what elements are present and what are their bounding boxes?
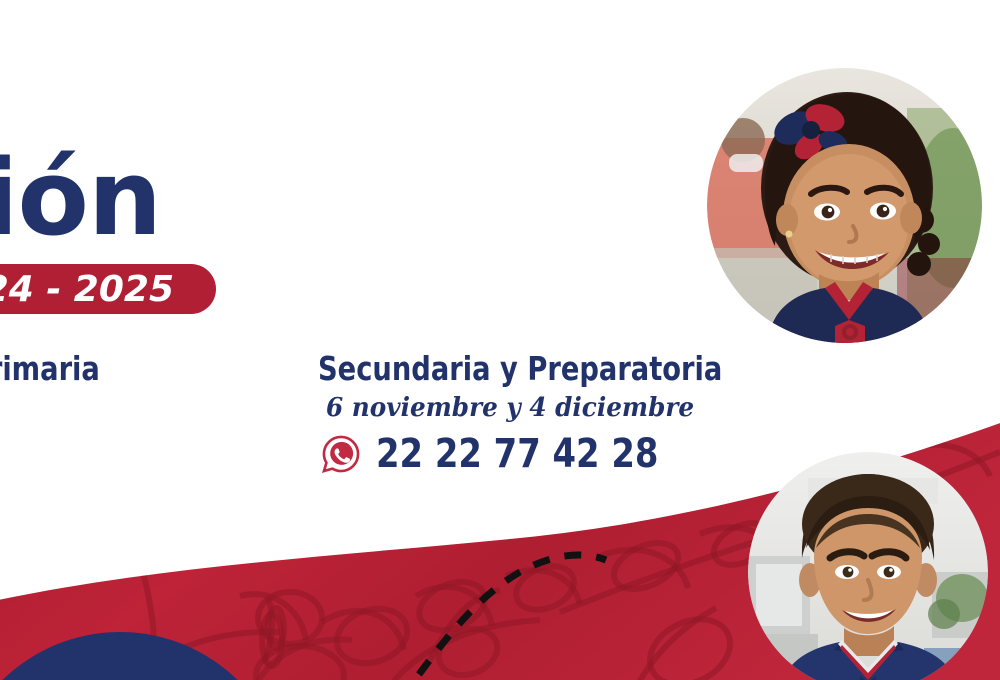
page-title: sión: [0, 146, 161, 250]
column-title-preescolar-primaria: olar y Primaria: [0, 352, 212, 387]
admission-column-preescolar-primaria: olar y Primaria mbre 93: [0, 352, 242, 477]
whatsapp-icon[interactable]: [320, 433, 362, 475]
school-year-badge-label: 024 - 2025: [0, 269, 174, 310]
banner-canvas: sión 024 - 2025 olar y Primaria mbre 93 …: [0, 0, 1000, 680]
admission-column-secundaria-preparatoria: Secundaria y Preparatoria 6 noviembre y …: [318, 352, 788, 477]
phone-row-preescolar-primaria[interactable]: 93: [0, 431, 242, 477]
photo-girl-circle: [707, 68, 982, 343]
column-title-secundaria-preparatoria: Secundaria y Preparatoria: [318, 352, 750, 387]
photo-boy-illustration: [748, 452, 988, 680]
column-dates-secundaria-preparatoria: 6 noviembre y 4 diciembre: [326, 393, 765, 423]
school-year-badge: 024 - 2025: [0, 264, 216, 314]
column-dates-preescolar-primaria: mbre: [0, 393, 224, 423]
phone-number-secundaria-preparatoria[interactable]: 22 22 77 42 28: [376, 431, 658, 477]
phone-row-secundaria-preparatoria[interactable]: 22 22 77 42 28: [320, 431, 788, 477]
photo-boy-circle: [748, 452, 988, 680]
photo-girl-illustration: [707, 68, 982, 343]
